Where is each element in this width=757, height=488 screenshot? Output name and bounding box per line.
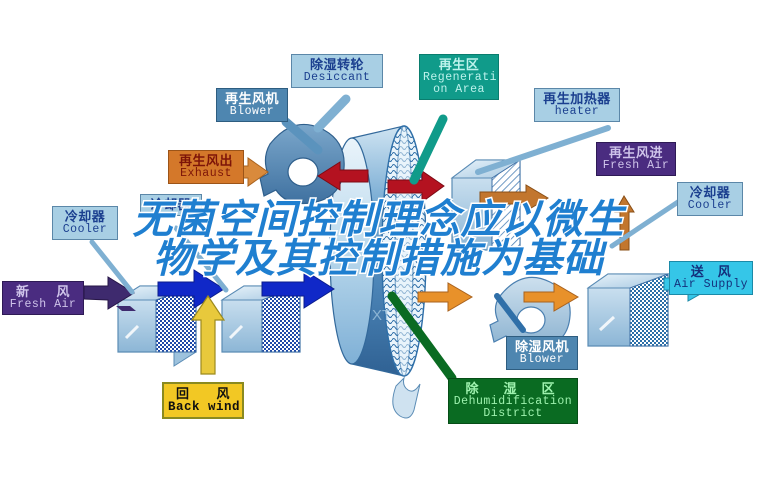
label-regeneration-area-cn: 再生区 <box>423 58 495 72</box>
leader-desiccant <box>318 99 346 128</box>
label-cooler-right-cn: 冷却器 <box>682 186 738 200</box>
label-regeneration-heater[interactable]: 再生加热器 heater <box>534 88 620 122</box>
label-dehumidification-district-en2: District <box>453 408 573 420</box>
label-desiccant-wheel-en: Desiccant <box>296 72 378 84</box>
back-wind-arrow <box>192 296 224 374</box>
label-regeneration-blower-en: Blower <box>221 106 283 118</box>
dry-air-arrow-1 <box>418 283 472 311</box>
heater-coil <box>452 160 520 250</box>
label-regeneration-air-inlet-en: Fresh Air <box>601 160 671 172</box>
label-dehumidifying-blower[interactable]: 除湿风机 Blower <box>506 336 578 370</box>
label-regeneration-area-en2: on Area <box>423 84 495 96</box>
label-dehumidification-district-cn: 除 湿 区 <box>453 382 573 396</box>
label-cooler-right[interactable]: 冷却器 Cooler <box>677 182 743 216</box>
label-back-wind-cn: 回 风 <box>168 387 238 401</box>
label-regeneration-air-inlet-cn: 再生风进 <box>601 146 671 160</box>
label-regeneration-area[interactable]: 再生区 Regenerati on Area <box>419 54 499 100</box>
svg-text:XT: XT <box>372 307 391 324</box>
label-back-wind-en: Back wind <box>168 401 238 414</box>
label-fresh-air-inlet[interactable]: 新 风 Fresh Air <box>2 281 84 315</box>
label-fresh-air-inlet-en: Fresh Air <box>7 299 79 311</box>
label-regeneration-air-inlet[interactable]: 再生风进 Fresh Air <box>596 142 676 176</box>
label-air-supply[interactable]: 送 风 Air Supply <box>669 261 753 295</box>
label-cooler-left-front-en: Cooler <box>57 224 113 236</box>
label-regeneration-blower[interactable]: 再生风机 Blower <box>216 88 288 122</box>
label-air-supply-cn: 送 风 <box>674 265 748 279</box>
label-desiccant-wheel-cn: 除湿转轮 <box>296 58 378 72</box>
filter-coil-1 <box>118 286 196 366</box>
leader-heater <box>478 128 608 172</box>
filter-coil-3 <box>588 274 668 346</box>
label-back-wind[interactable]: 回 风 Back wind <box>162 382 244 419</box>
label-regeneration-heater-en: heater <box>539 106 615 118</box>
label-exhaust-cn: 再生风出 <box>173 154 239 168</box>
label-cooler-left-back-cn: 冷却器 <box>145 198 197 212</box>
label-regeneration-heater-cn: 再生加热器 <box>539 92 615 106</box>
leader-regen-area <box>414 119 443 180</box>
label-cooler-left-back[interactable]: 冷却器 <box>140 194 202 216</box>
label-fresh-air-inlet-cn: 新 风 <box>7 285 79 299</box>
label-exhaust[interactable]: 再生风出 Exhaust <box>168 150 244 184</box>
label-regeneration-blower-cn: 再生风机 <box>221 92 283 106</box>
label-dehumidifying-blower-cn: 除湿风机 <box>511 340 573 354</box>
label-cooler-left-front-cn: 冷却器 <box>57 210 113 224</box>
label-cooler-right-en: Cooler <box>682 200 738 212</box>
label-exhaust-en: Exhaust <box>173 168 239 180</box>
label-dehumidification-district[interactable]: 除 湿 区 Dehumidification District <box>448 378 578 424</box>
dehumidification-diagram: XT <box>0 0 757 488</box>
label-desiccant-wheel[interactable]: 除湿转轮 Desiccant <box>291 54 383 88</box>
label-air-supply-en: Air Supply <box>674 279 748 291</box>
label-dehumidifying-blower-en: Blower <box>511 354 573 366</box>
label-cooler-left-front[interactable]: 冷却器 Cooler <box>52 206 118 240</box>
